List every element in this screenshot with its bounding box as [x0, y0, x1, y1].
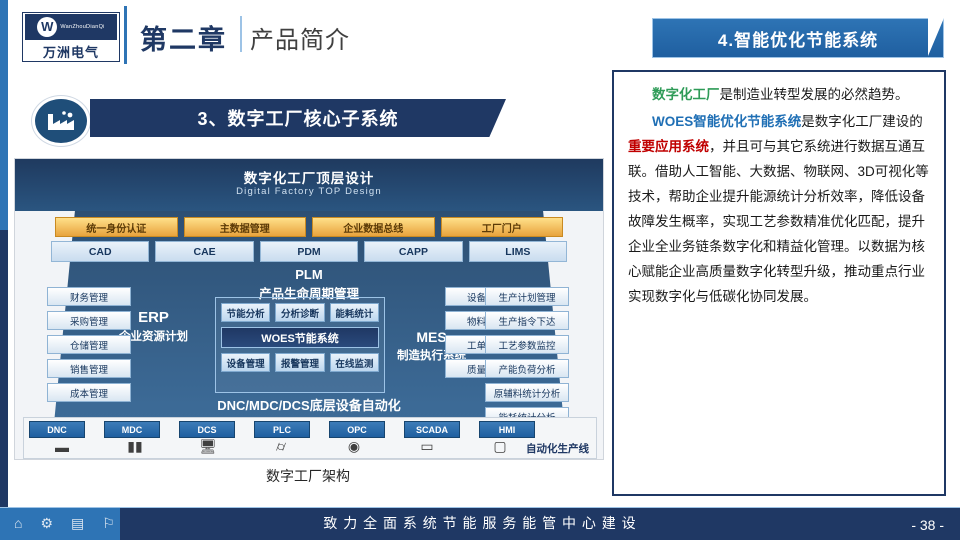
- paragraph-1: 数字化工厂是制造业转型发展的必然趋势。: [628, 82, 930, 107]
- production-module: 生产计划管理: [485, 287, 569, 306]
- design-tool-item: LIMS: [469, 241, 567, 262]
- chapter-title: 第二章: [140, 18, 227, 57]
- chapter-subtitle: 产品简介: [250, 20, 350, 55]
- protocol-chip: MDC: [104, 421, 160, 438]
- company-logo: W WanZhouDianQi 万洲电气: [22, 12, 120, 62]
- platform-service-item: 主数据管理: [184, 217, 307, 237]
- monitor-icon: ▭: [400, 439, 454, 454]
- architecture-diagram: 数字化工厂顶层设计 Digital Factory TOP Design 统一身…: [14, 158, 604, 460]
- figure-caption: 数字工厂架构: [14, 466, 602, 486]
- keyword-important-application: 重要应用系统: [628, 139, 709, 154]
- paragraph-1-rest: 是制造业转型发展的必然趋势。: [720, 87, 909, 102]
- protocol-chip: HMI: [479, 421, 535, 438]
- cabinet-icon: ▮▮: [108, 439, 162, 454]
- platform-service-item: 统一身份认证: [55, 217, 178, 237]
- design-tools-row: CAD CAE PDM CAPP LIMS: [51, 241, 567, 262]
- production-line-label: 自动化生产线: [526, 441, 589, 456]
- protocol-chip: DNC: [29, 421, 85, 438]
- page-number: - 38 -: [911, 517, 944, 533]
- logo-mark-icon: W: [37, 17, 57, 37]
- woes-block: 节能分析 分析诊断 能耗统计 WOES节能系统 设备管理 报警管理 在线监测: [215, 297, 385, 393]
- woes-title: WOES节能系统: [221, 327, 379, 348]
- roof-subtitle: Digital Factory TOP Design: [15, 186, 603, 197]
- keyword-woes: WOES智能优化节能系统: [652, 114, 801, 129]
- design-tool-item: PDM: [260, 241, 358, 262]
- erp-module: 销售管理: [47, 359, 131, 378]
- server-icon: ▬: [35, 439, 89, 454]
- protocol-chip-row: DNC MDC DCS PLC OPC SCADA HMI: [29, 421, 535, 438]
- computer-icon: 🖥: [181, 439, 235, 454]
- design-tool-item: CAD: [51, 241, 149, 262]
- woes-feature: 能耗统计: [330, 303, 379, 322]
- protocol-chip: PLC: [254, 421, 310, 438]
- erp-module: 仓储管理: [47, 335, 131, 354]
- erp-module: 采购管理: [47, 311, 131, 330]
- protocol-chip: DCS: [179, 421, 235, 438]
- paragraph-2: WOES智能优化节能系统是数字化工厂建设的重要应用系统，并且可与其它系统进行数据…: [628, 109, 930, 309]
- keyword-digital-factory: 数字化工厂: [652, 87, 720, 102]
- factory-icon: [46, 110, 76, 132]
- design-tool-item: CAPP: [364, 241, 462, 262]
- woes-feature: 设备管理: [221, 353, 270, 372]
- design-tool-item: CAE: [155, 241, 253, 262]
- section-title: 3、数字工厂核心子系统: [90, 99, 506, 137]
- opc-icon: ◉: [327, 439, 381, 454]
- woes-feature: 分析诊断: [275, 303, 324, 322]
- topic-tag: 4.智能优化节能系统: [652, 18, 944, 58]
- woes-feature: 在线监测: [330, 353, 379, 372]
- platform-services-row: 统一身份认证 主数据管理 企业数据总线 工厂门户: [55, 217, 563, 237]
- device-icon-row: ▬ ▮▮ 🖥 ⌭ ◉ ▭ ▢: [35, 439, 527, 454]
- logo-banner: W WanZhouDianQi: [25, 14, 117, 40]
- header-divider: [124, 6, 127, 64]
- diagram-roof: 数字化工厂顶层设计 Digital Factory TOP Design: [15, 159, 603, 211]
- woes-top-row: 节能分析 分析诊断 能耗统计: [216, 298, 384, 322]
- plm-title: PLM: [15, 267, 603, 282]
- production-module: 生产指令下达: [485, 311, 569, 330]
- erp-module-column: 财务管理 采购管理 仓储管理 销售管理 成本管理: [47, 287, 131, 407]
- protocol-chip: OPC: [329, 421, 385, 438]
- robot-arm-icon: ⌭: [254, 439, 308, 454]
- platform-service-item: 企业数据总线: [312, 217, 435, 237]
- left-edge-stripe-accent: [0, 0, 8, 230]
- platform-service-item: 工厂门户: [441, 217, 564, 237]
- production-module: 工艺参数监控: [485, 335, 569, 354]
- protocol-chip: SCADA: [404, 421, 460, 438]
- erp-module: 财务管理: [47, 287, 131, 306]
- roof-title: 数字化工厂顶层设计: [15, 167, 603, 187]
- paragraph-2-text-2: ，并且可与其它系统进行数据互通互联。借助人工智能、大数据、物联网、3D可视化等技…: [628, 139, 929, 304]
- footer-slogan: 致 力 全 面 系 统 节 能 服 务 能 管 中 心 建 设: [0, 513, 960, 533]
- logo-chinese-name: 万洲电气: [43, 42, 99, 61]
- woes-feature: 报警管理: [275, 353, 324, 372]
- hmi-panel-icon: ▢: [473, 439, 527, 454]
- section-badge: [32, 96, 90, 146]
- logo-english-name: WanZhouDianQi: [60, 24, 104, 30]
- woes-bottom-row: 设备管理 报警管理 在线监测: [216, 348, 384, 372]
- chapter-separator: [240, 16, 242, 52]
- woes-feature: 节能分析: [221, 303, 270, 322]
- description-panel: 数字化工厂是制造业转型发展的必然趋势。 WOES智能优化节能系统是数字化工厂建设…: [612, 70, 946, 496]
- paragraph-2-text-1: 是数字化工厂建设的: [801, 114, 923, 129]
- automation-layer-label: DNC/MDC/DCS底层设备自动化: [15, 395, 603, 414]
- production-module: 产能负荷分析: [485, 359, 569, 378]
